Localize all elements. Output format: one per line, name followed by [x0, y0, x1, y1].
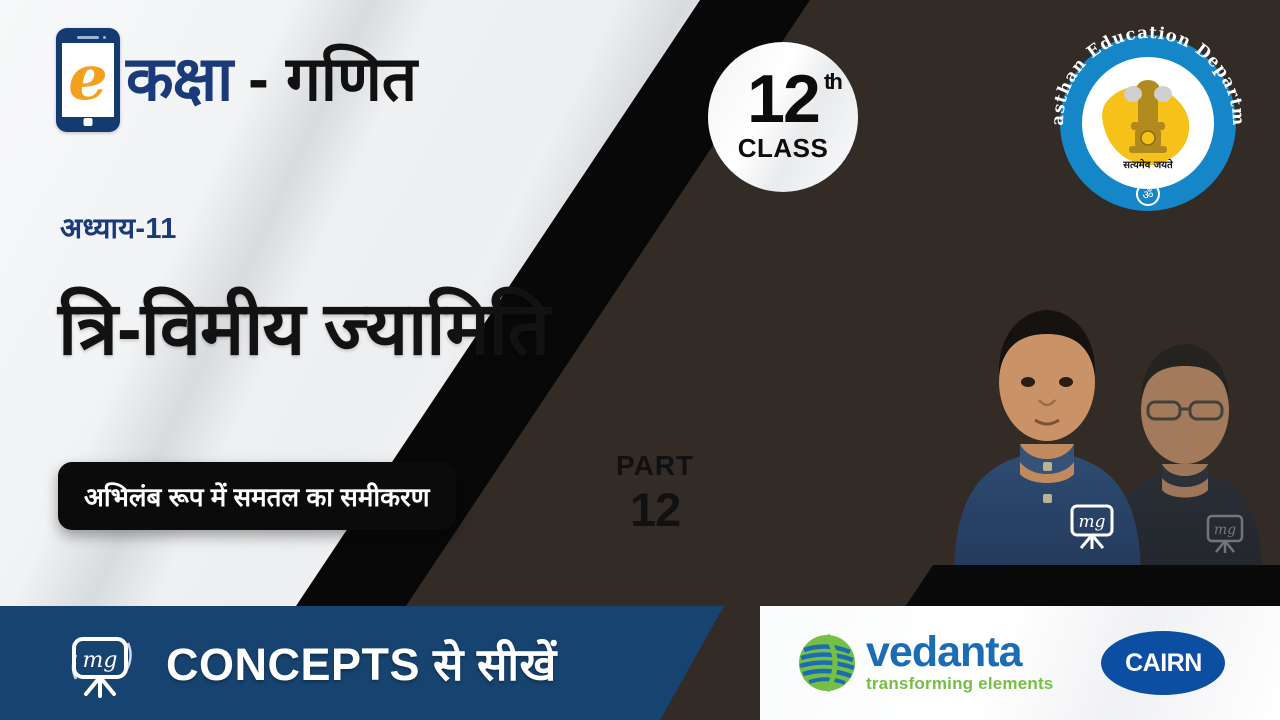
vedanta-tagline: transforming elements [866, 674, 1053, 694]
thumbnail-canvas: mg mg [0, 0, 1280, 720]
photo-base-bar [905, 565, 1280, 607]
footer-text-hi: से सीखें [420, 639, 557, 690]
footer-tagline: CONCEPTS से सीखें [166, 633, 557, 694]
part-indicator: PART 12 [616, 452, 694, 533]
class-badge: 12th CLASS [708, 42, 858, 192]
footer-text-en: CONCEPTS [166, 639, 420, 690]
vedanta-globe-icon [796, 632, 858, 694]
logo-wordmark: कक्षा [126, 49, 232, 111]
emblem-motto: सत्यमेव जयते [1122, 158, 1174, 171]
svg-text:mg: mg [83, 648, 118, 673]
page-title: त्रि-विमीय ज्यामिति [58, 288, 549, 369]
cairn-logo: CAIRN [1101, 631, 1225, 695]
class-number-text: 12 [747, 61, 819, 137]
vedanta-logo: vedanta transforming elements [796, 632, 1053, 695]
svg-text:mg: mg [1078, 512, 1105, 532]
brand-logo: e कक्षा - गणित [56, 28, 417, 132]
svg-text:ॐ: ॐ [1143, 188, 1154, 202]
footer-banner: mg CONCEPTS से सीखें [0, 606, 760, 720]
vedanta-wordmark: vedanta [866, 632, 1053, 673]
svg-text:mg: mg [1214, 522, 1236, 538]
instructor-1: mg [940, 248, 1155, 578]
subtitle-badge: अभिलंब रूप में समतल का समीकरण [58, 462, 456, 530]
part-label: PART [616, 452, 694, 480]
subject-label: - गणित [248, 49, 417, 111]
class-word: CLASS [738, 133, 829, 164]
class-ordinal: th [824, 72, 841, 91]
instructors-photo: mg mg [930, 238, 1280, 578]
chapter-label: अध्याय-11 [60, 208, 177, 247]
part-number: 12 [616, 486, 694, 533]
rajasthan-education-department-emblem: Rajasthan Education Department सत्यमेव ज… [1043, 18, 1253, 218]
cairn-wordmark: CAIRN [1125, 649, 1202, 678]
smartphone-icon: e [56, 28, 120, 132]
class-number: 12th [747, 70, 819, 130]
logo-letter-e: e [68, 47, 107, 109]
sponsor-strip: vedanta transforming elements CAIRN [760, 606, 1280, 720]
mg-easel-icon: mg [62, 625, 138, 701]
